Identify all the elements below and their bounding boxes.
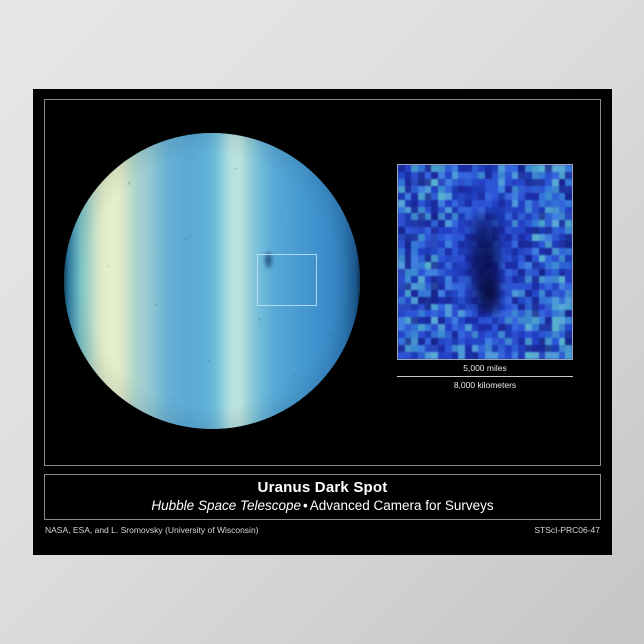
inset-pixel [431, 345, 438, 352]
inset-pixel [525, 186, 532, 193]
poster-page: 5,000 miles 8,000 kilometers Uranus Dark… [0, 0, 644, 644]
inset-pixel [405, 331, 412, 338]
inset-pixel [431, 234, 438, 241]
inset-pixel [478, 193, 485, 200]
inset-pixel [431, 227, 438, 234]
inset-pixel [545, 304, 552, 311]
inset-pixel [518, 172, 525, 179]
inset-pixel [465, 352, 472, 359]
inset-pixel [472, 324, 479, 331]
inset-pixel [525, 255, 532, 262]
inset-pixel [411, 310, 418, 317]
inset-pixel [559, 207, 566, 214]
inset-pixel [425, 220, 432, 227]
inset-pixel [452, 297, 459, 304]
inset-pixel [445, 324, 452, 331]
inset-pixel [398, 248, 405, 255]
inset-pixel [512, 345, 519, 352]
inset-pixel [505, 338, 512, 345]
inset-pixel [505, 262, 512, 269]
inset-pixel [431, 331, 438, 338]
inset-pixel [559, 213, 566, 220]
inset-pixel [411, 220, 418, 227]
inset-pixel [505, 220, 512, 227]
credit-row: NASA, ESA, and L. Sromovsky (University … [44, 525, 601, 535]
inset-pixel [405, 310, 412, 317]
inset-pixel [518, 324, 525, 331]
inset-pixel [498, 207, 505, 214]
inset-pixel [539, 283, 546, 290]
inset-pixel [445, 186, 452, 193]
inset-pixel [505, 317, 512, 324]
inset-pixel [545, 345, 552, 352]
inset-pixel [559, 172, 566, 179]
inset-pixel [545, 290, 552, 297]
poster-title: Uranus Dark Spot [258, 479, 388, 496]
inset-pixel [465, 200, 472, 207]
inset-pixel [512, 172, 519, 179]
inset-pixel [512, 283, 519, 290]
inset-pixel [552, 207, 559, 214]
inset-pixel [431, 290, 438, 297]
inset-pixel [452, 248, 459, 255]
inset-pixel [552, 241, 559, 248]
inset-pixel [472, 207, 479, 214]
inset-pixel [405, 213, 412, 220]
inset-pixel [425, 179, 432, 186]
inset-pixel [545, 276, 552, 283]
inset-pixel [431, 310, 438, 317]
inset-pixel [505, 241, 512, 248]
inset-pixel [438, 227, 445, 234]
inset-pixel [438, 317, 445, 324]
inset-pixel [525, 338, 532, 345]
inset-pixel [398, 207, 405, 214]
inset-pixel [518, 207, 525, 214]
inset-pixel [398, 352, 405, 359]
inset-pixel [552, 248, 559, 255]
inset-pixel [411, 241, 418, 248]
inset-pixel [425, 207, 432, 214]
inset-pixel [512, 179, 519, 186]
inset-pixel [545, 186, 552, 193]
inset-pixel [465, 317, 472, 324]
inset-pixel [545, 207, 552, 214]
inset-pixel [452, 269, 459, 276]
inset-pixel [438, 310, 445, 317]
inset-pixel [425, 352, 432, 359]
inset-pixel [512, 165, 519, 172]
inset-pixel [411, 345, 418, 352]
inset-pixel [565, 324, 572, 331]
inset-pixel [452, 207, 459, 214]
inset-pixel [418, 248, 425, 255]
inset-pixel [525, 352, 532, 359]
inset-pixel [431, 262, 438, 269]
inset-pixel [552, 324, 559, 331]
inset-pixel [552, 255, 559, 262]
inset-pixel [532, 304, 539, 311]
inset-pixel [518, 200, 525, 207]
inset-pixel [552, 276, 559, 283]
inset-pixel [539, 227, 546, 234]
inset-pixel [478, 172, 485, 179]
inset-pixel [411, 352, 418, 359]
inset-pixel [559, 220, 566, 227]
subtitle-bullet-separator: • [301, 498, 310, 513]
inset-pixel [525, 193, 532, 200]
subtitle-camera: Advanced Camera for Surveys [310, 498, 494, 513]
inset-pixel [518, 220, 525, 227]
inset-pixel [512, 227, 519, 234]
inset-pixel [411, 186, 418, 193]
inset-pixel [532, 241, 539, 248]
inset-pixel [438, 331, 445, 338]
inset-pixel [532, 269, 539, 276]
inset-pixel [452, 317, 459, 324]
inset-pixel [545, 234, 552, 241]
inset-pixel [418, 193, 425, 200]
inset-pixel [411, 290, 418, 297]
inset-pixel [565, 352, 572, 359]
inset-pixel [405, 186, 412, 193]
inset-pixel [485, 324, 492, 331]
inset-pixel [525, 227, 532, 234]
inset-pixel [552, 262, 559, 269]
inset-pixel [478, 200, 485, 207]
inset-pixel [405, 352, 412, 359]
inset-pixel [438, 262, 445, 269]
inset-pixel [512, 331, 519, 338]
inset-pixel [539, 234, 546, 241]
inset-pixel [559, 317, 566, 324]
inset-pixel [539, 324, 546, 331]
inset-pixel [405, 324, 412, 331]
inset-pixel [411, 193, 418, 200]
inset-pixel [545, 179, 552, 186]
inset-pixel [552, 310, 559, 317]
inset-pixel [518, 193, 525, 200]
inset-pixel [425, 172, 432, 179]
inset-pixel [512, 290, 519, 297]
inset-pixel [505, 331, 512, 338]
inset-pixel [452, 186, 459, 193]
inset-pixel [445, 248, 452, 255]
inset-pixel [452, 324, 459, 331]
inset-pixel [405, 276, 412, 283]
inset-pixel [565, 290, 572, 297]
inset-pixel [552, 283, 559, 290]
inset-pixel [512, 186, 519, 193]
inset-pixel [565, 186, 572, 193]
inset-pixel [545, 213, 552, 220]
inset-pixel [492, 200, 499, 207]
inset-pixel [552, 269, 559, 276]
inset-pixel [472, 338, 479, 345]
inset-pixel [472, 352, 479, 359]
inset-pixel [405, 317, 412, 324]
inset-pixel [411, 165, 418, 172]
inset-pixel [498, 317, 505, 324]
inset-pixel [472, 200, 479, 207]
inset-pixel [518, 165, 525, 172]
inset-pixel [452, 255, 459, 262]
inset-pixel [518, 262, 525, 269]
inset-pixel [532, 248, 539, 255]
inset-pixel [565, 213, 572, 220]
inset-pixel [398, 269, 405, 276]
inset-pixel [512, 234, 519, 241]
inset-pixel [525, 310, 532, 317]
inset-pixel [418, 200, 425, 207]
inset-pixel [431, 193, 438, 200]
scale-bar-miles-label: 5,000 miles [397, 362, 573, 375]
inset-pixel [492, 324, 499, 331]
inset-pixel [411, 269, 418, 276]
inset-pixel [552, 234, 559, 241]
inset-pixel [452, 352, 459, 359]
inset-pixel [458, 234, 465, 241]
inset-pixel [472, 193, 479, 200]
inset-pixel [405, 172, 412, 179]
inset-pixel [505, 179, 512, 186]
inset-pixel [498, 193, 505, 200]
inset-pixel [398, 227, 405, 234]
inset-pixel [545, 220, 552, 227]
inset-pixel [405, 290, 412, 297]
inset-pixel [458, 324, 465, 331]
inset-pixel [539, 172, 546, 179]
inset-pixel [438, 290, 445, 297]
inset-pixel [539, 213, 546, 220]
inset-pixel [431, 317, 438, 324]
inset-pixel [478, 186, 485, 193]
inset-pixel [398, 345, 405, 352]
inset-pixel [398, 186, 405, 193]
inset-pixel [525, 290, 532, 297]
inset-pixel [418, 304, 425, 311]
inset-pixel [405, 248, 412, 255]
inset-pixel [485, 172, 492, 179]
inset-pixel [552, 304, 559, 311]
inset-pixel [559, 345, 566, 352]
inset-pixel [458, 255, 465, 262]
inset-pixel [525, 179, 532, 186]
inset-pixel [438, 283, 445, 290]
inset-pixel [438, 179, 445, 186]
inset-pixel [565, 331, 572, 338]
inset-pixel [418, 213, 425, 220]
inset-pixel [512, 193, 519, 200]
inset-pixel [458, 338, 465, 345]
inset-pixel [532, 193, 539, 200]
inset-pixel [525, 262, 532, 269]
inset-pixel [505, 248, 512, 255]
inset-pixel [505, 255, 512, 262]
inset-pixel [525, 297, 532, 304]
inset-pixel [512, 248, 519, 255]
inset-pixel [498, 186, 505, 193]
inset-pixel [545, 317, 552, 324]
inset-pixel [398, 179, 405, 186]
inset-pixel [458, 352, 465, 359]
inset-pixel [539, 165, 546, 172]
inset-pixel [539, 331, 546, 338]
poster-subtitle: Hubble Space Telescope•Advanced Camera f… [151, 498, 493, 515]
inset-pixel [518, 179, 525, 186]
inset-pixel [458, 297, 465, 304]
inset-pixel [505, 324, 512, 331]
inset-pixel [425, 317, 432, 324]
inset-pixel [452, 220, 459, 227]
inset-pixel [505, 234, 512, 241]
inset-pixel [532, 338, 539, 345]
inset-pixel [465, 193, 472, 200]
inset-pixel [512, 200, 519, 207]
inset-pixel [512, 317, 519, 324]
inset-pixel [452, 234, 459, 241]
inset-pixel [398, 200, 405, 207]
inset-pixel [398, 213, 405, 220]
inset-pixel [518, 352, 525, 359]
inset-pixel [505, 283, 512, 290]
inset-pixel [532, 200, 539, 207]
inset-pixel [552, 193, 559, 200]
inset-pixel [539, 269, 546, 276]
inset-pixel [445, 241, 452, 248]
inset-pixel [512, 241, 519, 248]
inset-pixel [492, 186, 499, 193]
inset-pixel [438, 172, 445, 179]
inset-pixel [411, 227, 418, 234]
inset-pixel [559, 165, 566, 172]
inset-pixel [565, 220, 572, 227]
inset-pixel [525, 234, 532, 241]
inset-pixel [539, 276, 546, 283]
inset-pixel [452, 283, 459, 290]
inset-pixel [512, 297, 519, 304]
inset-pixel [545, 193, 552, 200]
inset-pixel [445, 213, 452, 220]
inset-pixel [445, 255, 452, 262]
inset-pixel [411, 213, 418, 220]
inset-pixel [492, 207, 499, 214]
inset-pixel [532, 165, 539, 172]
inset-pixel [445, 331, 452, 338]
inset-pixel [445, 172, 452, 179]
inset-pixel [532, 317, 539, 324]
inset-pixel [431, 255, 438, 262]
inset-pixel [498, 165, 505, 172]
inset-pixel [445, 297, 452, 304]
inset-pixel [445, 269, 452, 276]
inset-pixel [539, 255, 546, 262]
inset-pixel [458, 248, 465, 255]
inset-pixel [505, 213, 512, 220]
inset-pixel [559, 200, 566, 207]
inset-pixel [405, 345, 412, 352]
inset-pixel [505, 172, 512, 179]
inset-pixel [559, 310, 566, 317]
inset-pixel [458, 207, 465, 214]
poster-artwork: 5,000 miles 8,000 kilometers Uranus Dark… [33, 89, 612, 555]
inset-pixel [405, 297, 412, 304]
inset-pixel [472, 317, 479, 324]
inset-pixel [431, 200, 438, 207]
inset-pixel [431, 207, 438, 214]
inset-pixel [512, 213, 519, 220]
inset-pixel [532, 331, 539, 338]
inset-pixel [539, 207, 546, 214]
inset-pixel [418, 283, 425, 290]
inset-pixel [505, 269, 512, 276]
inset-pixel [458, 304, 465, 311]
inset-pixel [405, 255, 412, 262]
subtitle-telescope: Hubble Space Telescope [151, 498, 301, 513]
inset-pixel [452, 179, 459, 186]
inset-pixel [431, 186, 438, 193]
inset-pixel [425, 262, 432, 269]
inset-pixel [559, 324, 566, 331]
inset-pixel [559, 234, 566, 241]
inset-pixel [465, 179, 472, 186]
catalog-id: STScI-PRC06-47 [534, 525, 601, 535]
inset-pixel [458, 165, 465, 172]
inset-pixel [532, 262, 539, 269]
inset-pixel [492, 331, 499, 338]
inset-pixel [418, 172, 425, 179]
inset-pixel [438, 200, 445, 207]
inset-pixel [418, 352, 425, 359]
inset-pixel [398, 234, 405, 241]
inset-pixel [425, 193, 432, 200]
inset-pixel [565, 269, 572, 276]
inset-pixel [438, 248, 445, 255]
inset-pixel [559, 186, 566, 193]
inset-pixel [425, 213, 432, 220]
scale-bar-kilometers-label: 8,000 kilometers [397, 378, 573, 391]
inset-pixel [512, 220, 519, 227]
inset-pixel [425, 276, 432, 283]
inset-pixel [431, 304, 438, 311]
inset-pixel [498, 200, 505, 207]
inset-pixel [565, 172, 572, 179]
inset-pixel [498, 179, 505, 186]
inset-pixel [418, 310, 425, 317]
inset-pixel [505, 352, 512, 359]
inset-pixel [438, 186, 445, 193]
inset-pixel [418, 331, 425, 338]
inset-pixel [532, 297, 539, 304]
inset-pixel [565, 276, 572, 283]
inset-pixel [478, 317, 485, 324]
inset-pixel [418, 207, 425, 214]
inset-pixel [411, 255, 418, 262]
inset-pixel [565, 165, 572, 172]
inset-pixel [518, 338, 525, 345]
inset-pixel [559, 304, 566, 311]
inset-pixel [492, 352, 499, 359]
inset-pixel [518, 186, 525, 193]
inset-pixel [525, 269, 532, 276]
inset-pixel [545, 248, 552, 255]
inset-pixel [552, 200, 559, 207]
inset-pixel [452, 193, 459, 200]
inset-pixel [492, 317, 499, 324]
inset-pixel [525, 324, 532, 331]
inset-pixel [418, 227, 425, 234]
inset-pixel [532, 324, 539, 331]
